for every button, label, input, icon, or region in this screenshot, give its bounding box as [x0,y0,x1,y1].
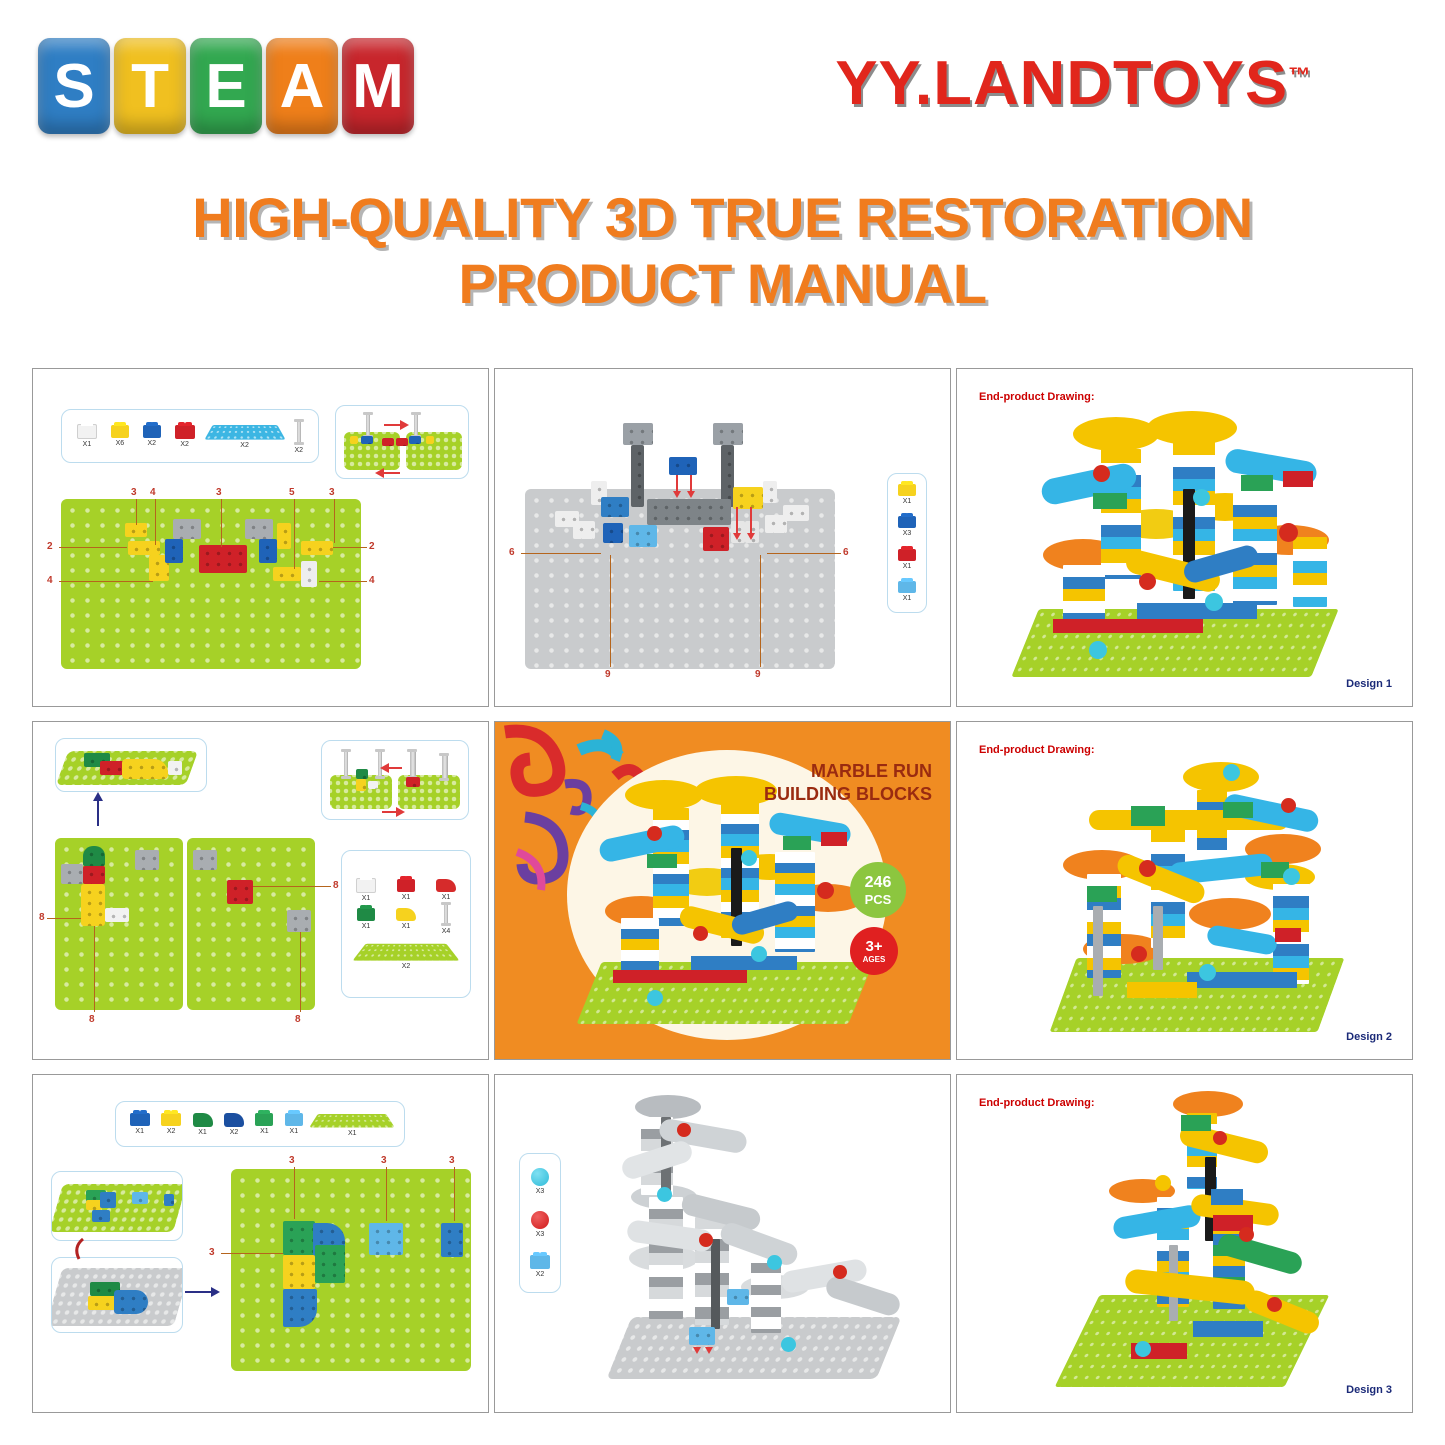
steam-tile-s: S [38,38,110,134]
callout-number: 8 [39,912,45,923]
part-qty: X4 [442,928,451,935]
part-qty: X2 [402,963,411,970]
part-qty: X1 [135,1128,144,1135]
callout-number: 3 [449,1155,455,1166]
part-item: X1 [347,908,385,930]
box-art-title-line1: MARBLE RUN [764,760,932,783]
steam-letter: M [352,51,404,122]
callout-number: 3 [216,487,222,498]
part-qty: X2 [147,440,156,447]
pieces-count-badge: 246 PCS [850,862,906,918]
callout-number: 3 [131,487,137,498]
page-title-line2: PRODUCT MANUAL [0,251,1445,317]
steam-letter: T [131,51,169,122]
callout-number: 9 [755,669,761,680]
page-title-line1: HIGH-QUALITY 3D TRUE RESTORATION [0,185,1445,251]
steam-tile-a: A [266,38,338,134]
panel7-baseplate [231,1169,471,1371]
part-qty: X1 [362,895,371,902]
part-item: X1 [387,908,425,930]
part-qty: X2 [294,447,303,454]
part-item: X1 [130,1113,150,1135]
part-qty: X1 [83,441,92,448]
panel8-parts-box: X3 X3 X2 [519,1153,561,1293]
part-item: X2 [209,423,281,449]
callout-number: 8 [295,1014,301,1025]
part-item: X1 [285,1113,303,1135]
panel4-detail-inset [55,738,207,792]
part-item: X2 [161,1113,181,1135]
curved-arrow-icon [69,1237,89,1261]
design1-render [997,397,1377,683]
age-rating: 3+ [865,939,882,954]
instruction-panel-grid: X1 X6 X2 X2 X2 X2 [32,368,1413,1413]
part-item: X2 [175,425,195,448]
panel2-parts-box: X1 X3 X1 X1 [887,473,927,613]
panel1-join-inset [335,405,469,479]
callout-number: 8 [89,1014,95,1025]
age-label: AGES [863,956,886,964]
page-title: HIGH-QUALITY 3D TRUE RESTORATION PRODUCT… [0,185,1445,317]
part-qty: X1 [260,1128,269,1135]
part-item: X1 [898,484,916,505]
part-item: X1 [77,424,97,448]
part-item: X1 [427,879,465,901]
part-item: X1 [347,878,385,902]
part-qty: X2 [230,1129,239,1136]
age-rating-badge: 3+ AGES [850,927,898,975]
design3-render [1061,1085,1361,1401]
part-qty: X6 [116,440,125,447]
box-art-title-line2: BUILDING BLOCKS [764,783,932,806]
steam-tile-t: T [114,38,186,134]
callout-number: 2 [47,541,53,552]
panel-design-2: End-product Drawing: [956,721,1413,1060]
part-item: X1 [193,1113,213,1136]
callout-number: 6 [843,547,849,558]
design2-render [1027,746,1357,1040]
panel-step-8: X3 X3 X2 [494,1074,951,1413]
part-qty: X1 [290,1128,299,1135]
steam-letter: A [280,51,325,122]
callout-number: 4 [47,575,53,586]
part-item: X2 [530,1255,550,1278]
part-item: X4 [427,902,465,935]
part-qty: X2 [240,442,249,449]
callout-number: 3 [289,1155,295,1166]
panel4-parts-box: X1 X1 X1 X1 X1 X4 [341,850,471,998]
panel7-inset-bottom [51,1257,183,1333]
panel-step-1: X1 X6 X2 X2 X2 X2 [32,368,489,707]
part-qty: X3 [903,530,912,537]
part-item: X3 [531,1168,549,1195]
steam-tile-e: E [190,38,262,134]
panel-design-1: End-product Drawing: [956,368,1413,707]
trademark-symbol: ™ [1288,62,1311,87]
panel-step-4: 8 8 8 8 X1 X1 X1 X1 [32,721,489,1060]
panel-step-2: 6 6 9 9 X1 X3 X1 X1 [494,368,951,707]
callout-number: 2 [369,541,375,552]
callout-number: 4 [369,575,375,586]
part-item: X6 [111,425,129,447]
panel1-parts-box: X1 X6 X2 X2 X2 X2 [61,409,319,463]
page-header: S T E A M YY.LANDTOYS™ HIGH-QUALITY 3D T… [0,0,1445,340]
part-qty: X1 [903,595,912,602]
part-qty: X2 [180,441,189,448]
part-qty: X1 [348,1130,357,1137]
part-qty: X3 [536,1188,545,1195]
part-qty: X1 [402,894,411,901]
part-qty: X2 [167,1128,176,1135]
panel4-tower-inset [321,740,469,820]
product-box-art: MARBLE RUN BUILDING BLOCKS 246 PCS 3+ AG… [495,722,950,1059]
pieces-count: 246 [865,875,892,891]
part-item: X2 [224,1113,244,1136]
part-item: X1 [387,879,425,901]
steam-letter: E [205,51,246,122]
panel7-parts-box: X1 X2 X1 X2 X1 X1 [115,1101,405,1147]
steam-letter: S [53,51,94,122]
box-art-title: MARBLE RUN BUILDING BLOCKS [764,760,932,805]
design-label: Design 3 [1346,1384,1392,1396]
callout-number: 4 [150,487,156,498]
part-item: X3 [898,516,916,537]
brand-logo: YY.LANDTOYS™ [835,48,1311,119]
panel-design-3: End-product Drawing: [956,1074,1413,1413]
part-qty: X1 [402,923,411,930]
pieces-unit: PCS [865,893,892,906]
part-item: X2 [143,425,161,447]
part-item: X1 [898,549,916,570]
design-label: Design 2 [1346,1031,1392,1043]
part-item: X1 [898,581,916,602]
box-art-product-render [567,766,897,1032]
panel-step-7: X1 X2 X1 X2 X1 X1 [32,1074,489,1413]
callout-number: 5 [289,487,295,498]
part-item: X2 [294,419,303,454]
part-qty: X3 [536,1231,545,1238]
panel7-inset-top [51,1171,183,1241]
callout-number: 8 [333,880,339,891]
panel-box-art: MARBLE RUN BUILDING BLOCKS 246 PCS 3+ AG… [494,721,951,1060]
part-qty: X1 [442,894,451,901]
callout-number: 3 [329,487,335,498]
steam-logo: S T E A M [38,38,414,134]
callout-number: 9 [605,669,611,680]
part-item: X1 [314,1112,390,1137]
brand-name: YY.LANDTOYS [835,49,1288,118]
callout-number: 3 [209,1247,215,1258]
callout-number: 6 [509,547,515,558]
part-item: X1 [255,1113,273,1135]
part-qty: X2 [536,1271,545,1278]
steam-tile-m: M [342,38,414,134]
part-qty: X1 [903,498,912,505]
part-item: X2 [346,941,466,970]
part-qty: X1 [362,923,371,930]
design-label: Design 1 [1346,678,1392,690]
part-item: X3 [531,1211,549,1238]
part-qty: X1 [903,563,912,570]
part-qty: X1 [198,1129,207,1136]
callout-number: 3 [381,1155,387,1166]
panel8-grayscale-build [595,1089,925,1399]
